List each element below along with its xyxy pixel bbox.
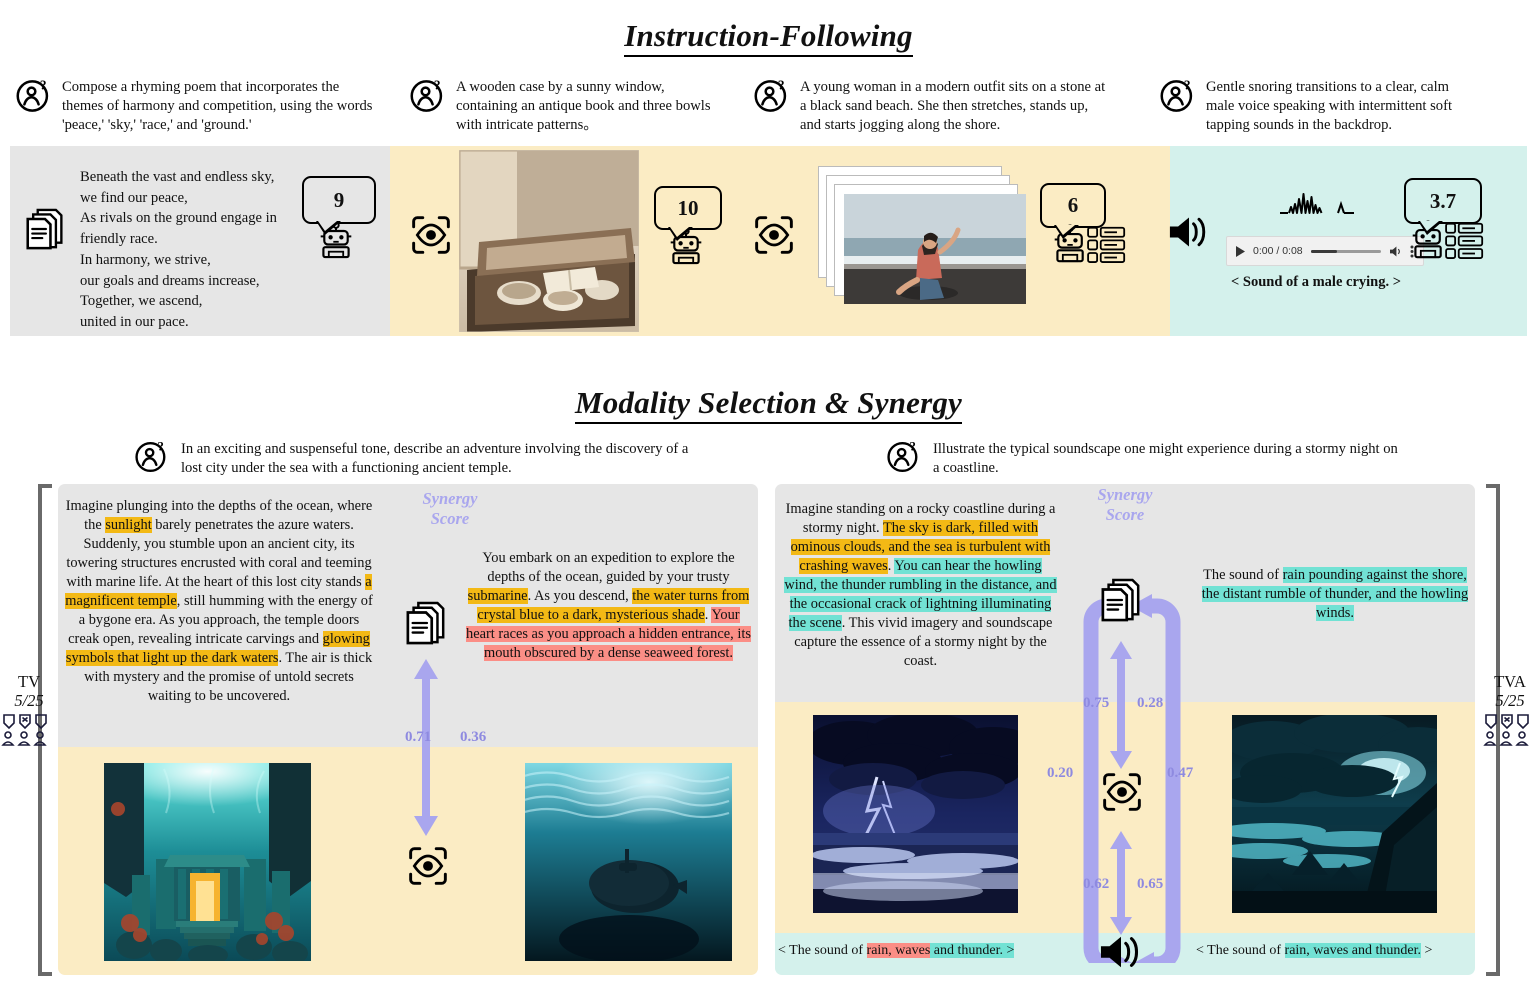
- svg-text:?: ?: [434, 77, 441, 92]
- page-root: Instruction-Following ? Compose a rhymin…: [0, 0, 1537, 983]
- document-stack-icon: [25, 207, 65, 251]
- section-title-modality: Modality Selection & Synergy: [0, 385, 1537, 421]
- svg-text:?: ?: [40, 77, 47, 92]
- highlight-y: submarine: [468, 588, 528, 604]
- left-modality-label: TV 5/25: [0, 672, 58, 749]
- left-text-a: Imagine plunging into the depths of the …: [64, 497, 374, 706]
- synergy-word-1: Synergy: [380, 489, 520, 509]
- left-node-document-stack-icon: [405, 600, 447, 646]
- right-modality-ratio: 5/25: [1482, 691, 1537, 710]
- section-title-instruction-following: Instruction-Following: [0, 18, 1537, 54]
- svg-text:?: ?: [158, 440, 164, 454]
- right-text-b-content: The sound of rain pounding against the s…: [1202, 567, 1468, 621]
- image-stormy-rocky-coast: [1232, 715, 1437, 913]
- left-modality-letters: TV: [0, 672, 58, 691]
- right-sound-caption-right-content: < The sound of rain, waves and thunder. …: [1196, 943, 1432, 958]
- prompt-row-4: ? Gentle snoring transitions to a clear,…: [1158, 78, 1478, 135]
- right-score-outer-left: 0.20: [1047, 765, 1073, 782]
- score-value-2: 10: [678, 196, 699, 221]
- video-frame-stack: [818, 166, 1033, 306]
- score-bubble-4: 3.7: [1404, 178, 1482, 224]
- left-text-a-content: Imagine plunging into the depths of the …: [65, 498, 373, 704]
- image-stormy-lightning-beach: [813, 715, 1018, 913]
- image-wooden-case: [459, 150, 639, 332]
- prompt-text-1: Compose a rhyming poem that incorporates…: [62, 78, 374, 135]
- svg-text:?: ?: [1184, 77, 1191, 92]
- audio-time: 0:00 / 0:08: [1253, 245, 1303, 257]
- user-question-icon: ?: [885, 438, 925, 478]
- svg-text:?: ?: [778, 77, 785, 92]
- modality-prompt-text-left: In an exciting and suspenseful tone, des…: [181, 440, 713, 478]
- synergy-word-1-r: Synergy: [1060, 485, 1190, 505]
- synergy-word-2: Score: [380, 509, 520, 529]
- section-title-text: Instruction-Following: [624, 18, 912, 57]
- highlight-r: rain, waves: [867, 943, 931, 958]
- right-sound-caption-right: < The sound of rain, waves and thunder. …: [1196, 943, 1432, 959]
- right-modality-letters: TVA: [1482, 672, 1537, 691]
- left-modality-ratio: 5/25: [0, 691, 58, 710]
- left-synergy-score-label: Synergy Score: [380, 489, 520, 529]
- score-bubble-3: 6: [1040, 183, 1106, 228]
- modality-prompt-right: ? Illustrate the typical soundscape one …: [885, 440, 1405, 478]
- user-question-icon: ?: [752, 76, 792, 116]
- right-score-vision-audio-left: 0.62: [1083, 876, 1109, 893]
- highlight-y: sunlight: [105, 517, 151, 533]
- score-value-3: 6: [1068, 193, 1079, 218]
- right-sound-caption-left: < The sound of rain, waves and thunder. …: [778, 943, 1014, 959]
- prompt-row-1: ? Compose a rhyming poem that incorporat…: [14, 78, 374, 135]
- prompt-row-3: ? A young woman in a modern outfit sits …: [752, 78, 1107, 135]
- audio-caption: < Sound of a male crying. >: [1196, 274, 1436, 291]
- user-question-icon: ?: [1158, 76, 1198, 116]
- user-question-icon: ?: [133, 438, 173, 478]
- speaker-icon-4: [1166, 212, 1212, 252]
- right-synergy-score-label: Synergy Score: [1060, 485, 1190, 525]
- right-score-text-vision-right: 0.28: [1137, 695, 1163, 712]
- image-woman-beach: [844, 194, 1026, 304]
- highlight-c: rain pounding against the shore, the dis…: [1202, 567, 1468, 621]
- highlight-c: rain, waves and thunder.: [1285, 943, 1421, 958]
- section-title-text-2: Modality Selection & Synergy: [575, 385, 962, 424]
- prompt-text-3: A young woman in a modern outfit sits on…: [800, 78, 1107, 135]
- eye-scan-icon-3: [752, 214, 796, 256]
- audio-progress-bar[interactable]: [1311, 250, 1381, 253]
- left-rating-icons: [0, 711, 58, 749]
- left-text-b-content: You embark on an expedition to explore t…: [466, 550, 751, 661]
- left-bidirectional-arrow: [408, 655, 444, 840]
- audio-player[interactable]: 0:00 / 0:08: [1226, 236, 1424, 266]
- right-modality-label: TVA 5/25: [1482, 672, 1537, 749]
- left-text-b: You embark on an expedition to explore t…: [466, 549, 751, 663]
- image-underwater-temple: [104, 763, 311, 961]
- highlight-y: a magnificent temple: [65, 574, 371, 609]
- user-question-icon: ?: [408, 76, 448, 116]
- prompt-text-4: Gentle snoring transitions to a clear, c…: [1206, 78, 1478, 135]
- score-bubble-2: 10: [654, 186, 722, 230]
- right-score-vision-audio-right: 0.65: [1137, 876, 1163, 893]
- highlight-c: and thunder. >: [930, 943, 1014, 958]
- right-rating-icons: [1482, 711, 1537, 749]
- modality-prompt-text-right: Illustrate the typical soundscape one mi…: [933, 440, 1405, 478]
- prompt-text-2: A wooden case by a sunny window, contain…: [456, 78, 718, 135]
- right-sound-caption-left-content: < The sound of rain, waves and thunder. …: [778, 943, 1014, 958]
- if-output-text-1: Beneath the vast and endless sky, we fin…: [80, 167, 310, 333]
- volume-icon[interactable]: [1389, 246, 1402, 257]
- right-score-outer-right: 0.47: [1167, 765, 1193, 782]
- eye-scan-icon-2: [409, 214, 453, 256]
- score-value-4: 3.7: [1430, 189, 1456, 214]
- right-node-eye-scan-icon: [1100, 771, 1144, 813]
- left-score-right: 0.36: [460, 729, 486, 746]
- prompt-row-2: ? A wooden case by a sunny window, conta…: [408, 78, 718, 135]
- svg-text:?: ?: [910, 440, 916, 454]
- user-question-icon: ?: [14, 76, 54, 116]
- right-text-a-content: Imagine standing on a rocky coastline du…: [784, 501, 1056, 669]
- audio-waveform-icon: [1278, 193, 1356, 233]
- right-text-b: The sound of rain pounding against the s…: [1196, 566, 1474, 623]
- score-value-1: 9: [334, 188, 345, 213]
- play-icon[interactable]: [1236, 246, 1245, 257]
- right-text-a: Imagine standing on a rocky coastline du…: [784, 500, 1057, 671]
- right-score-text-vision-left: 0.75: [1083, 695, 1109, 712]
- synergy-word-2-r: Score: [1060, 505, 1190, 525]
- right-node-document-stack-icon: [1100, 577, 1142, 623]
- score-bubble-1: 9: [302, 176, 376, 224]
- highlight-y: glowing symbols that light up the dark w…: [66, 631, 370, 666]
- modality-prompt-left: ? In an exciting and suspenseful tone, d…: [133, 440, 713, 478]
- image-submarine: [525, 763, 732, 961]
- left-node-eye-scan-icon: [406, 845, 450, 887]
- left-score-left: 0.71: [405, 729, 431, 746]
